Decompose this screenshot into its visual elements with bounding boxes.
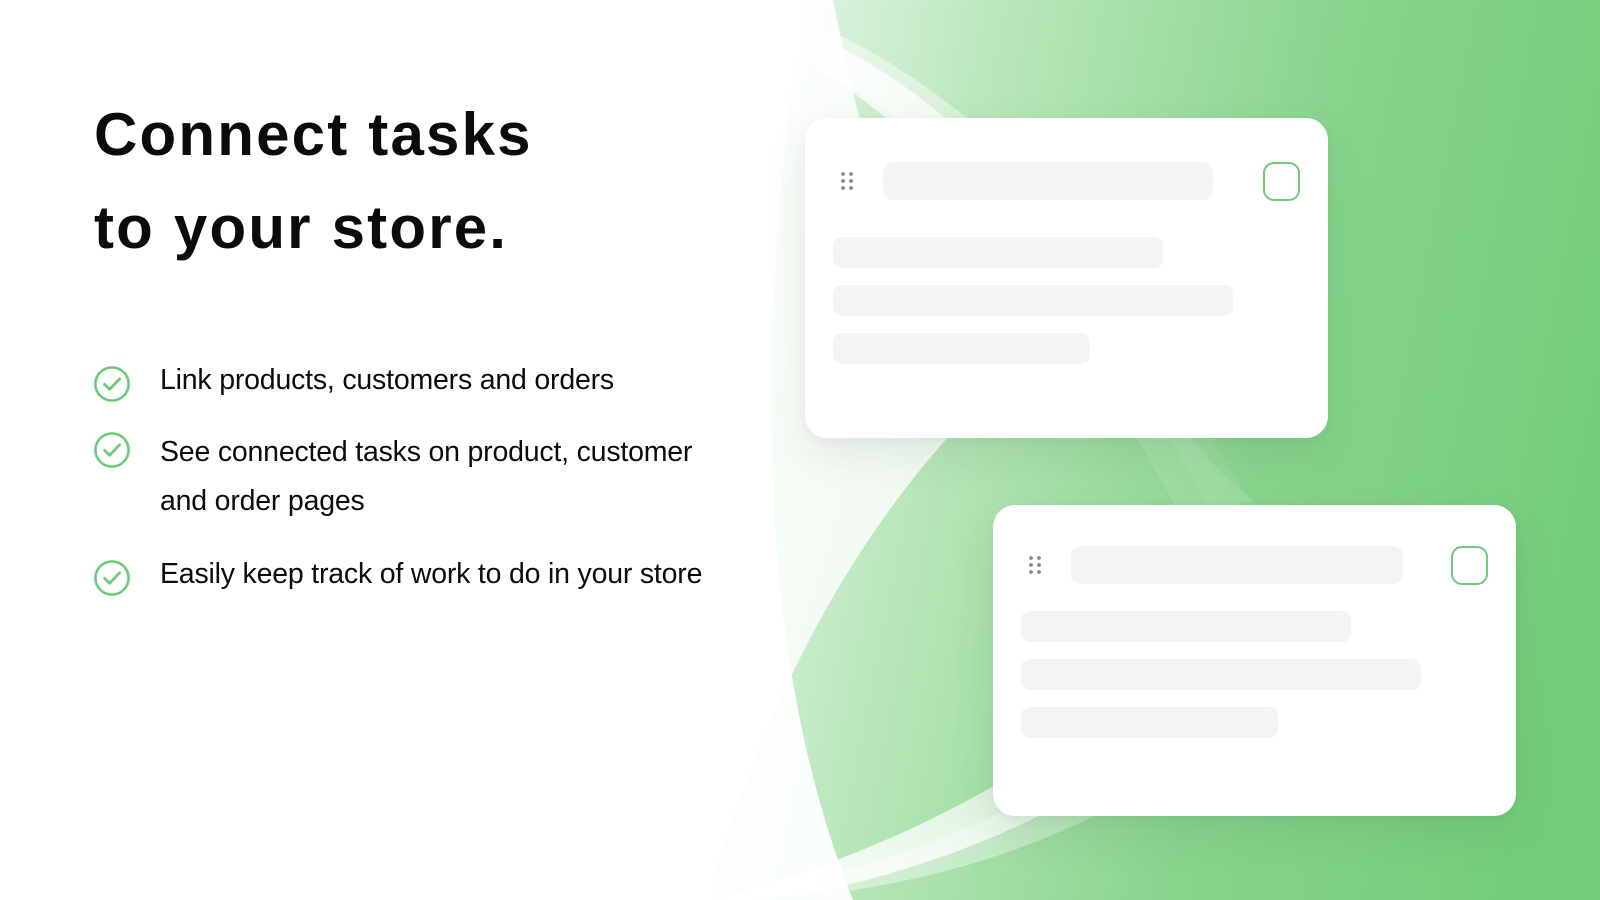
- skeleton-line: [1021, 611, 1351, 642]
- task-title-placeholder[interactable]: [883, 162, 1213, 200]
- check-circle-icon: [92, 430, 132, 470]
- check-circle-icon: [92, 558, 132, 598]
- copy-panel: Connect tasks to your store. Link produc…: [0, 0, 713, 900]
- task-card-header: [993, 546, 1516, 584]
- skeleton-line: [833, 285, 1233, 316]
- promo-banner: Connect tasks to your store. Link produc…: [0, 0, 1600, 900]
- task-title-placeholder[interactable]: [1071, 546, 1403, 584]
- task-card[interactable]: [805, 118, 1328, 438]
- benefit-list: Link products, customers and orders See …: [92, 362, 752, 622]
- list-item-label: Easily keep track of work to do in your …: [160, 556, 702, 594]
- skeleton-line: [1021, 659, 1421, 690]
- skeleton-line: [833, 237, 1163, 268]
- list-item: Easily keep track of work to do in your …: [92, 556, 752, 598]
- task-card-header: [805, 162, 1328, 200]
- drag-handle-icon[interactable]: [840, 170, 854, 192]
- list-item: Link products, customers and orders: [92, 362, 752, 404]
- page-title: Connect tasks to your store.: [94, 88, 714, 274]
- task-card[interactable]: [993, 505, 1516, 816]
- task-detail-skeleton: [833, 237, 1328, 381]
- check-circle-icon: [92, 364, 132, 404]
- task-complete-checkbox[interactable]: [1263, 162, 1300, 201]
- task-detail-skeleton: [1021, 611, 1516, 755]
- list-item-label: See connected tasks on product, customer…: [160, 428, 720, 526]
- skeleton-line: [1021, 707, 1278, 738]
- task-complete-checkbox[interactable]: [1451, 546, 1488, 585]
- list-item-label: Link products, customers and orders: [160, 362, 614, 400]
- drag-handle-icon[interactable]: [1028, 554, 1042, 576]
- list-item: See connected tasks on product, customer…: [92, 428, 752, 526]
- skeleton-line: [833, 333, 1090, 364]
